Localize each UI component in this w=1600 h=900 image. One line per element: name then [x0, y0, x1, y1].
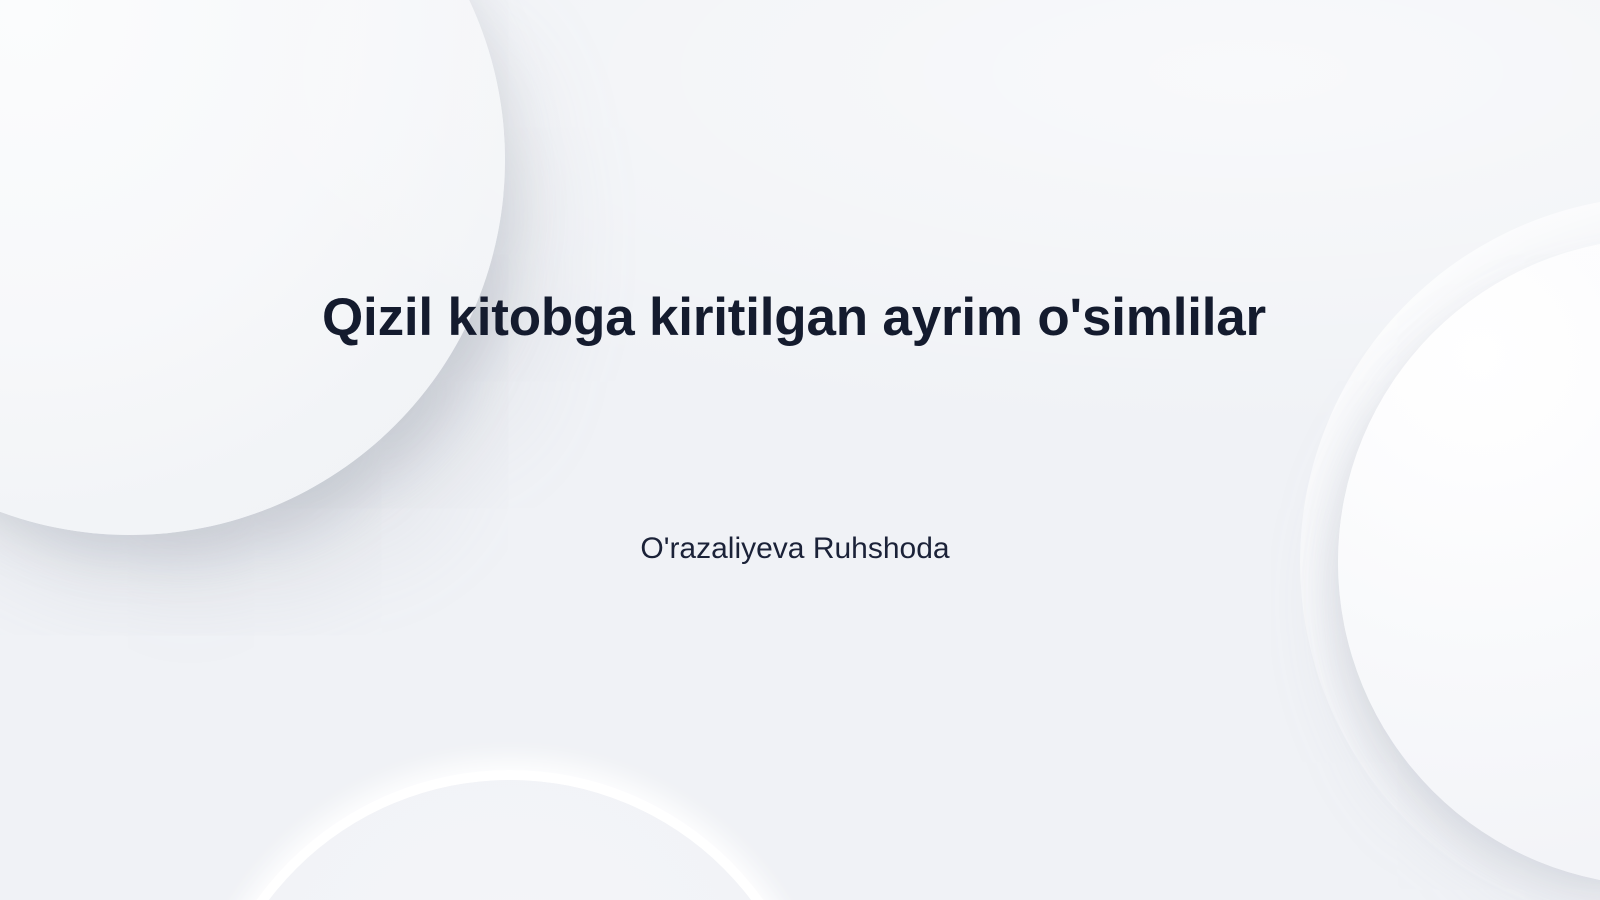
title-slide: Qizil kitobga kiritilgan ayrim o'simlila… — [0, 0, 1600, 900]
slide-content: Qizil kitobga kiritilgan ayrim o'simlila… — [0, 0, 1600, 900]
slide-title: Qizil kitobga kiritilgan ayrim o'simlila… — [0, 288, 1588, 347]
slide-subtitle-author: O'razaliyeva Ruhshoda — [0, 529, 1590, 568]
